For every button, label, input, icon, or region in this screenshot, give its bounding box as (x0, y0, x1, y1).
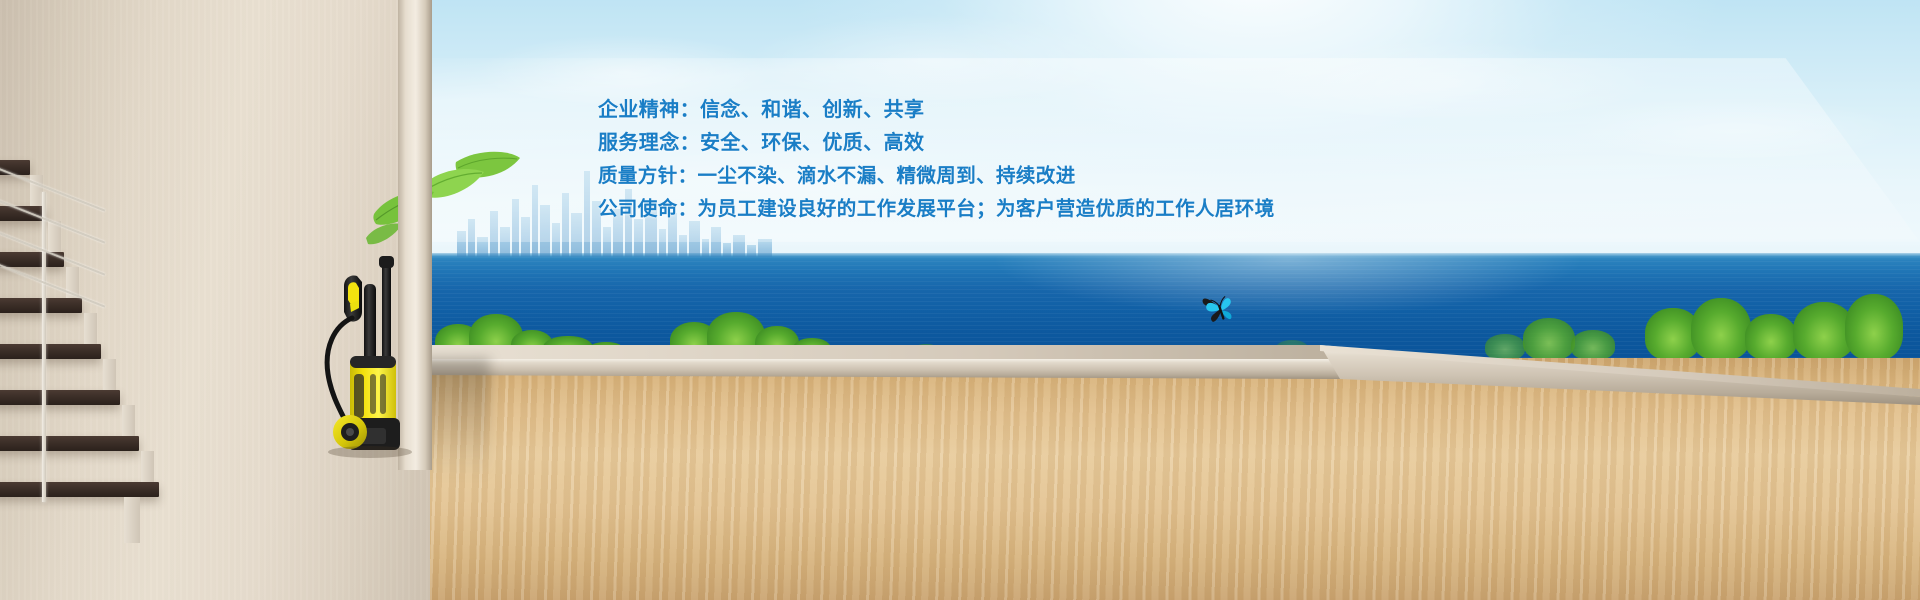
stair-riser (141, 451, 154, 482)
stair-riser (122, 405, 135, 436)
stair-step (0, 160, 30, 175)
baseboard-skirting (415, 345, 1920, 405)
trigger-gun (344, 275, 362, 321)
stair-step (0, 206, 46, 221)
culture-line-spirit: 企业精神：信念、和谐、创新、共享 (598, 94, 1275, 127)
stair-step (0, 298, 82, 313)
stair-step (0, 482, 159, 497)
stair-riser (124, 497, 140, 543)
stair-riser (103, 359, 116, 390)
culture-line-mission: 公司使命：为员工建设良好的工作发展平台；为客户营造优质的工作人居环境 (598, 193, 1275, 226)
washer-wheel (333, 415, 367, 449)
blue-butterfly-icon (1196, 285, 1244, 333)
stair-riser (84, 313, 97, 344)
stair-step (0, 344, 101, 359)
company-culture-banner: 企业精神：信念、和谐、创新、共享 服务理念：安全、环保、优质、高效 质量方针：一… (0, 0, 1920, 600)
culture-line-service: 服务理念：安全、环保、优质、高效 (598, 127, 1275, 160)
floating-staircase (0, 140, 209, 500)
balustrade-post (42, 192, 46, 502)
culture-line-quality: 质量方针：一尘不染、滴水不漏、精微周到、持续改进 (598, 160, 1275, 193)
company-culture-text-block: 企业精神：信念、和谐、创新、共享 服务理念：安全、环保、优质、高效 质量方针：一… (598, 94, 1275, 226)
stair-step (0, 390, 120, 405)
stair-step (0, 436, 139, 451)
floating-leaves (360, 140, 530, 250)
high-pressure-hose (327, 318, 352, 422)
leaf-icon (366, 224, 402, 245)
yellow-pressure-washer (310, 252, 428, 458)
